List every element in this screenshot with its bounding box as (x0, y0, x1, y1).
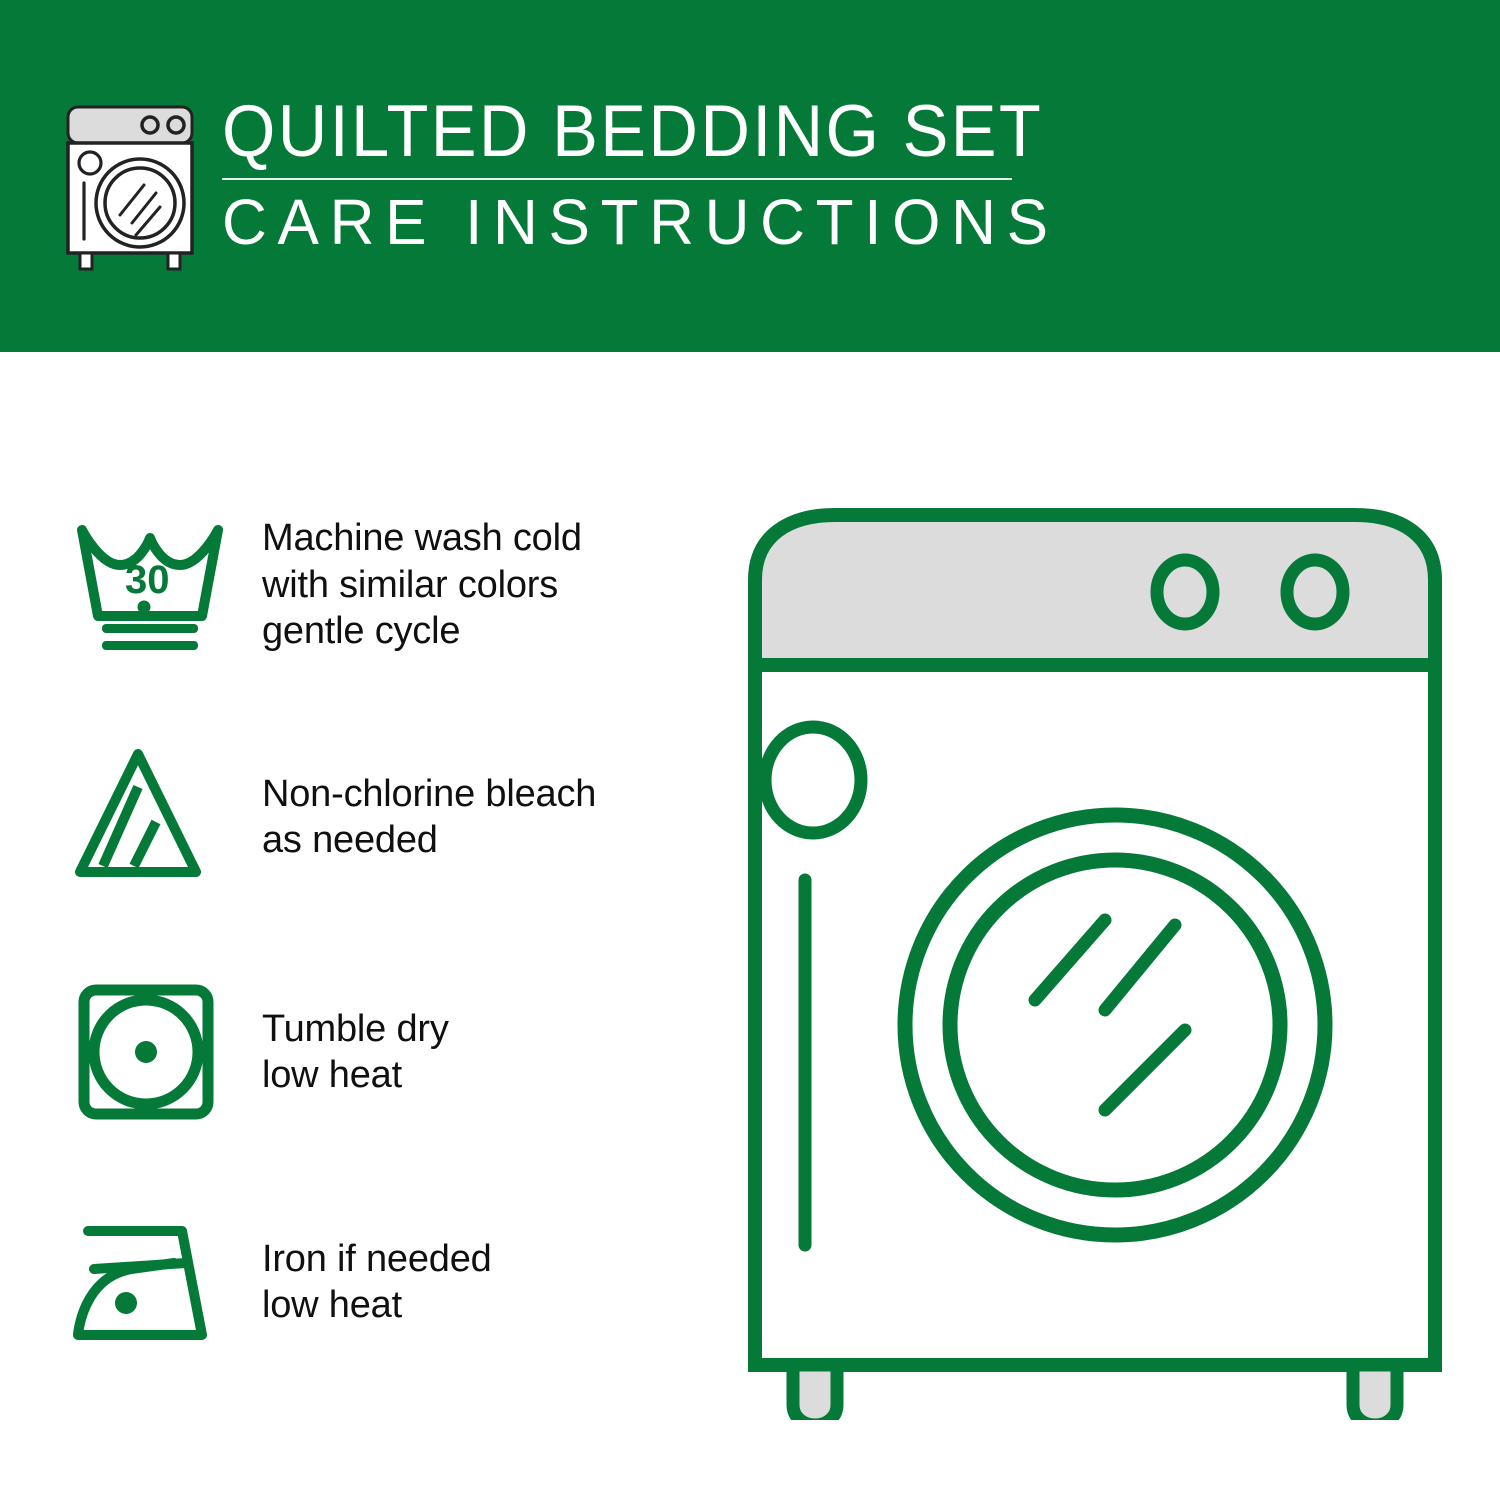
care-row-bleach: Non-chlorine bleach as needed (70, 742, 596, 892)
page-title: QUILTED BEDDING SET (222, 95, 1043, 169)
wash-temperature-value: 30 (125, 558, 170, 602)
iron-icon (70, 1207, 230, 1357)
care-label-iron: Iron if needed low heat (262, 1236, 492, 1329)
header-text-block: QUILTED BEDDING SET CARE INSTRUCTIONS (222, 95, 1096, 257)
page-subtitle: CARE INSTRUCTIONS (222, 189, 1069, 256)
tumble-dry-icon (70, 977, 230, 1127)
care-row-iron: Iron if needed low heat (70, 1207, 492, 1357)
care-row-tumble-dry: Tumble dry low heat (70, 977, 449, 1127)
care-label-tumble-dry: Tumble dry low heat (262, 1006, 449, 1099)
bleach-triangle-icon (70, 742, 230, 892)
care-row-machine-wash: 30 Machine wash cold with similar colors… (70, 510, 582, 660)
washing-machine-illustration (745, 500, 1445, 1420)
header-band: QUILTED BEDDING SET CARE INSTRUCTIONS (0, 0, 1500, 352)
header-divider (222, 178, 1012, 180)
header-content: QUILTED BEDDING SET CARE INSTRUCTIONS (62, 95, 1096, 271)
leg-left (793, 1365, 837, 1420)
door-inner-ring (950, 860, 1280, 1190)
knob-right (1287, 560, 1343, 624)
leg-right (1353, 1365, 1397, 1420)
care-instruction-list: 30 Machine wash cold with similar colors… (0, 352, 740, 1500)
care-label-bleach: Non-chlorine bleach as needed (262, 771, 596, 864)
care-label-machine-wash: Machine wash cold with similar colors ge… (262, 515, 582, 654)
wash-tub-30-icon: 30 (70, 510, 230, 660)
washing-machine-icon (62, 103, 198, 271)
knob-left (1157, 560, 1213, 624)
